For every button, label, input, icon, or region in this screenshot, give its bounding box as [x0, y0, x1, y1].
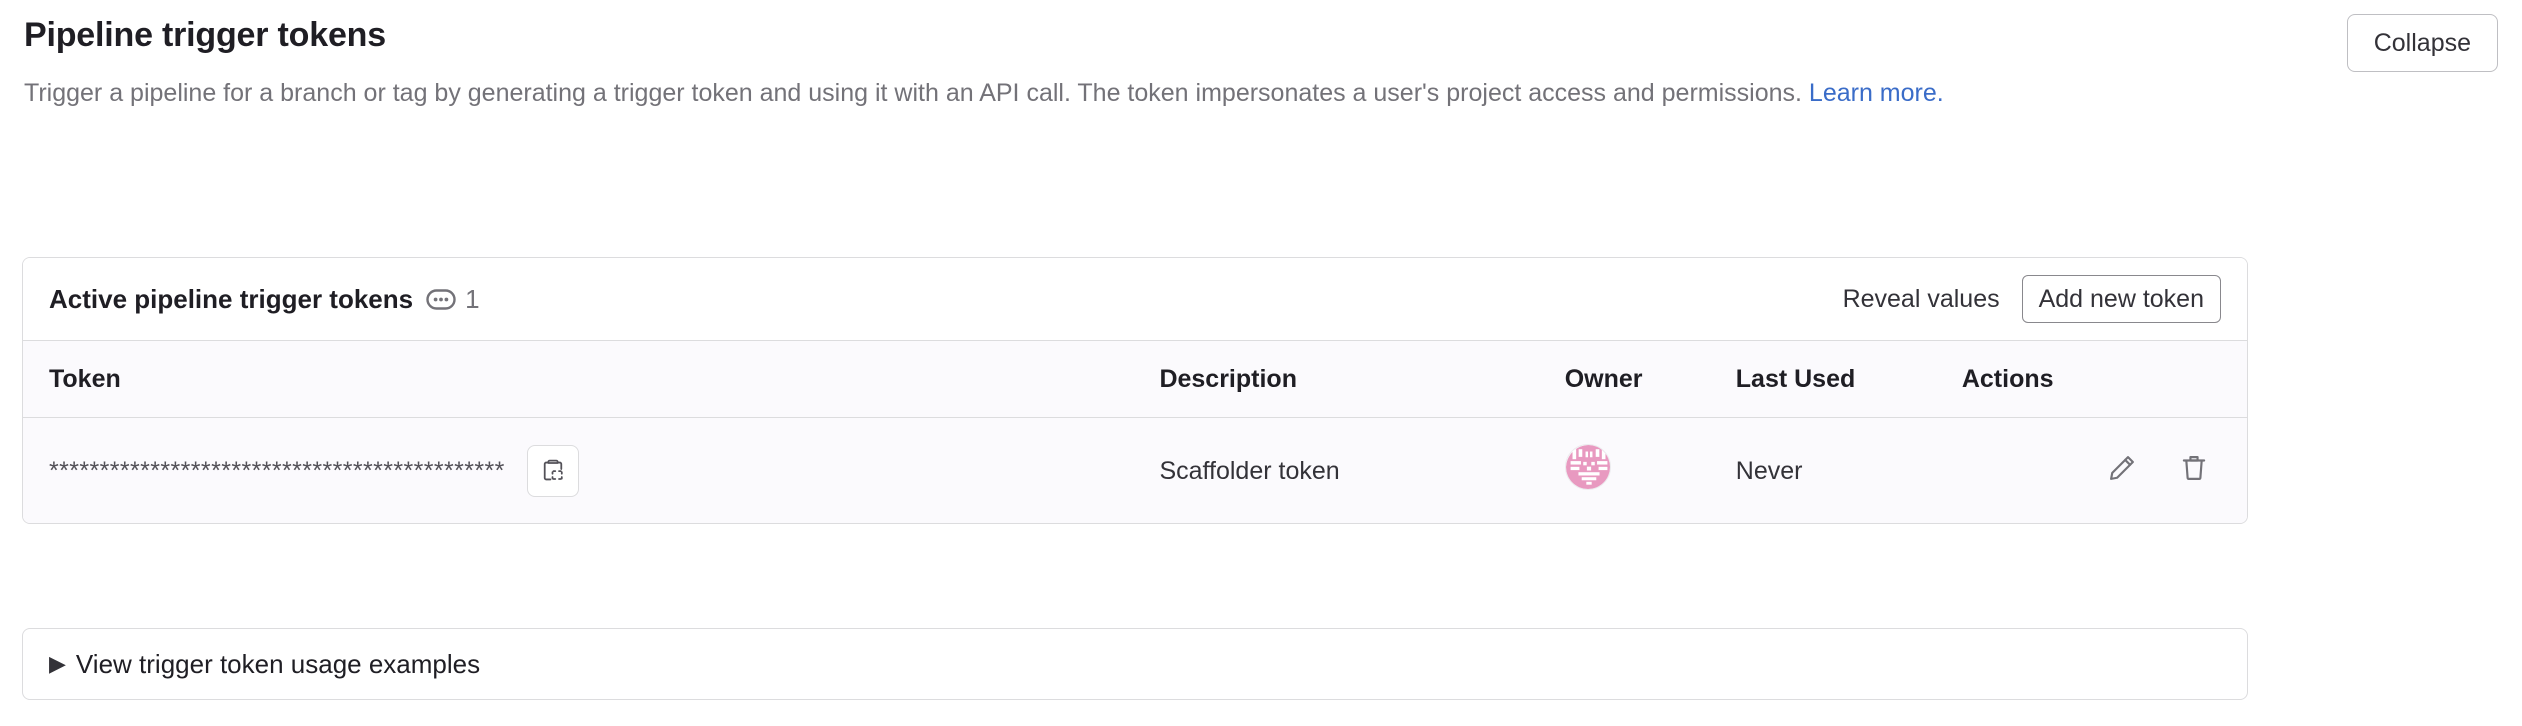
add-new-token-button[interactable]: Add new token — [2022, 275, 2221, 323]
card-header-actions: Reveal values Add new token — [1843, 275, 2221, 323]
delete-token-button[interactable] — [2177, 451, 2211, 485]
section-header: Pipeline trigger tokens Trigger a pipeli… — [0, 0, 2522, 112]
identicon-avatar[interactable] — [1565, 444, 1611, 490]
active-tokens-card: Active pipeline trigger tokens 1 Reveal … — [22, 257, 2248, 524]
cell-description: Scaffolder token — [1159, 418, 1564, 524]
card-title: Active pipeline trigger tokens — [49, 283, 413, 315]
column-header-last-used: Last Used — [1736, 341, 1962, 418]
comment-pill-icon — [426, 289, 456, 310]
tokens-table-header-row: Token Description Owner Last Used Action… — [23, 341, 2247, 418]
tokens-table: Token Description Owner Last Used Action… — [23, 340, 2247, 523]
copy-to-clipboard-icon — [540, 458, 566, 484]
reveal-values-button[interactable]: Reveal values — [1843, 285, 2000, 313]
copy-to-clipboard-button[interactable] — [527, 445, 579, 497]
table-row: ****************************************… — [23, 418, 2247, 524]
masked-token-value: ****************************************… — [49, 456, 505, 486]
column-header-token: Token — [23, 341, 1159, 418]
pencil-icon — [2107, 453, 2137, 483]
card-header: Active pipeline trigger tokens 1 Reveal … — [23, 258, 2247, 340]
usage-examples-label: View trigger token usage examples — [76, 649, 480, 679]
pipeline-trigger-tokens-page: Pipeline trigger tokens Trigger a pipeli… — [0, 0, 2522, 726]
row-actions — [2105, 451, 2211, 485]
tokens-table-body: ****************************************… — [23, 418, 2247, 524]
section-description-text: Trigger a pipeline for a branch or tag b… — [24, 79, 1809, 107]
collapse-button[interactable]: Collapse — [2347, 14, 2498, 72]
card-title-wrap: Active pipeline trigger tokens 1 — [49, 283, 480, 315]
page-title: Pipeline trigger tokens — [24, 14, 2498, 56]
tokens-table-head: Token Description Owner Last Used Action… — [23, 341, 2247, 418]
section-description: Trigger a pipeline for a branch or tag b… — [24, 74, 2269, 112]
token-count: 1 — [426, 285, 479, 313]
column-header-description: Description — [1159, 341, 1564, 418]
cell-token: ****************************************… — [23, 418, 1159, 524]
edit-token-button[interactable] — [2105, 451, 2139, 485]
token-count-value: 1 — [465, 285, 479, 313]
usage-examples-expander[interactable]: ▶ View trigger token usage examples — [22, 628, 2248, 700]
chevron-right-icon: ▶ — [49, 653, 66, 675]
cell-last-used: Never — [1736, 418, 1962, 524]
column-header-actions: Actions — [1962, 341, 2247, 418]
token-cell-inner: ****************************************… — [49, 445, 1159, 497]
cell-owner — [1565, 418, 1736, 524]
trash-icon — [2179, 453, 2209, 483]
cell-actions — [1962, 418, 2247, 524]
learn-more-link[interactable]: Learn more. — [1809, 79, 1944, 107]
column-header-owner: Owner — [1565, 341, 1736, 418]
